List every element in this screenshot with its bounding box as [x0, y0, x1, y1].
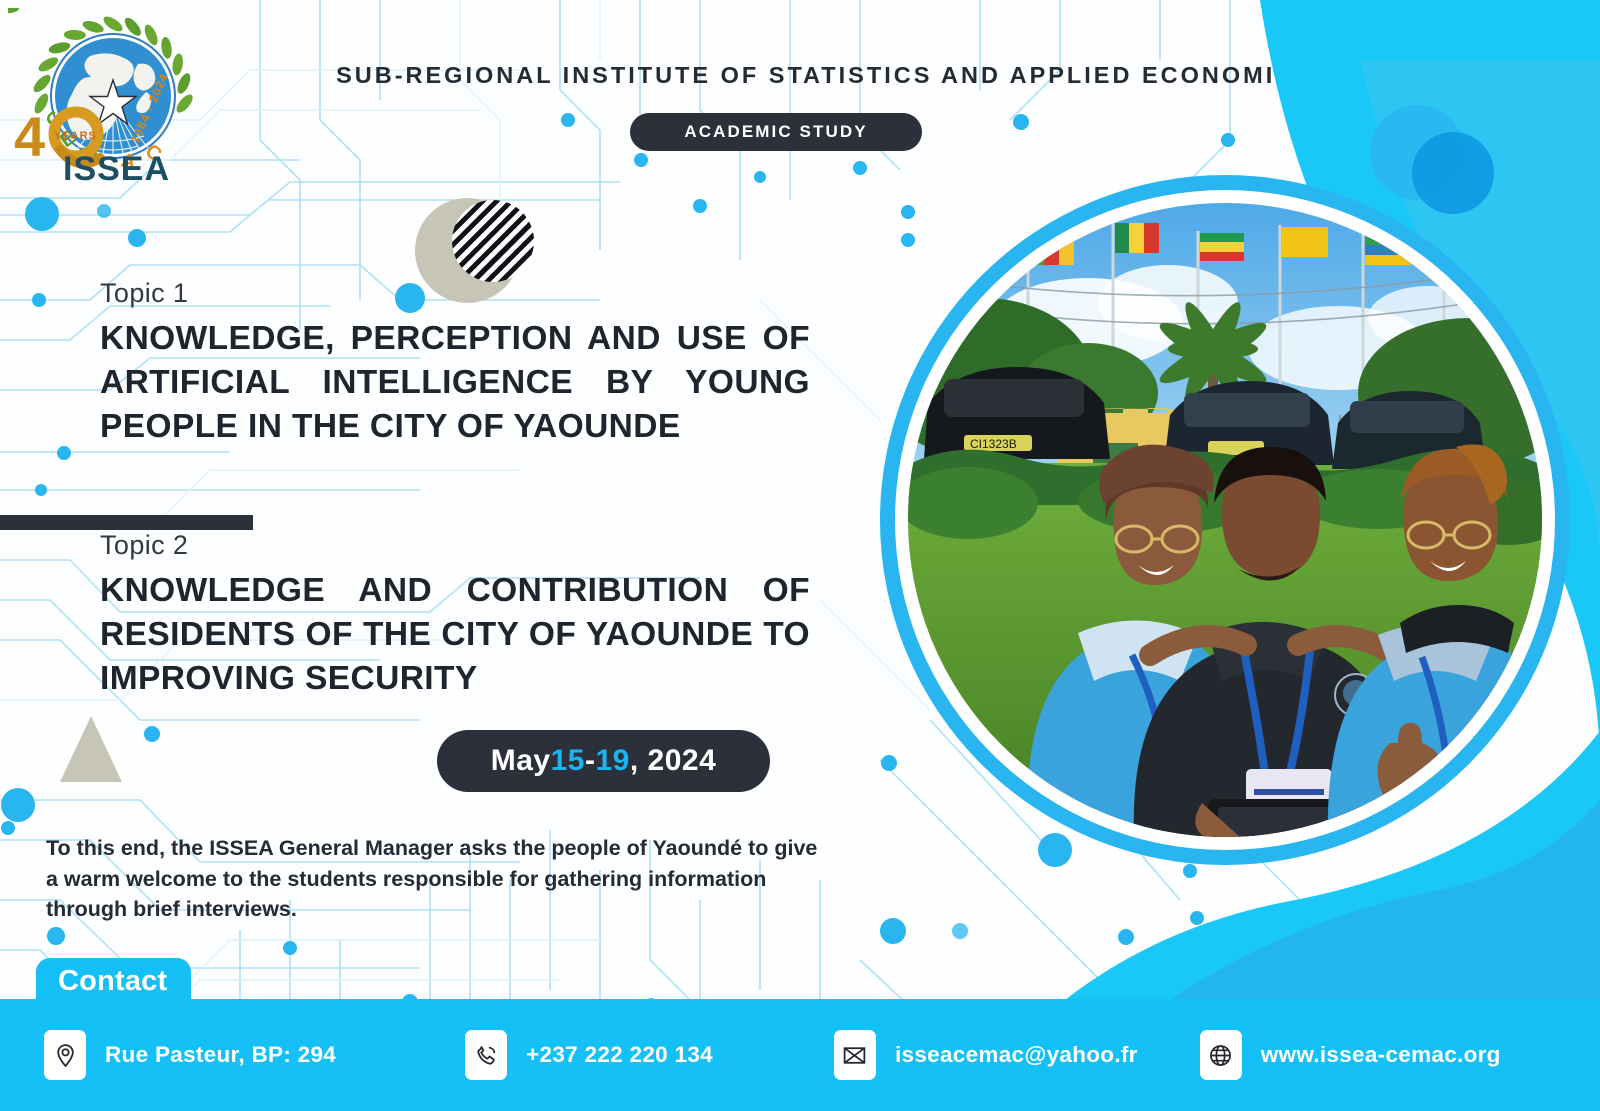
date-end-day: 19	[595, 744, 629, 778]
academic-study-badge: ACADEMIC STUDY	[630, 113, 922, 151]
location-pin-icon	[44, 1030, 86, 1080]
topic-1-kicker: Topic 1	[100, 278, 810, 309]
students-photo: CI1323B	[908, 203, 1542, 837]
striped-circle-decoration	[452, 200, 534, 282]
contact-item-phone: +237 222 220 134	[465, 1030, 713, 1080]
topic-1-title: KNOWLEDGE, PERCEPTION AND USE OF ARTIFIC…	[100, 317, 810, 450]
envelope-icon	[834, 1030, 876, 1080]
topic-2-block: Topic 2 KNOWLEDGE AND CONTRIBUTION OF RE…	[100, 530, 810, 702]
contact-phone-value: +237 222 220 134	[526, 1042, 713, 1068]
institute-title: SUB-REGIONAL INSTITUTE OF STATISTICS AND…	[270, 62, 1380, 89]
contact-email-value: isseacemac@yahoo.fr	[895, 1042, 1138, 1068]
svg-text:YEARS: YEARS	[54, 130, 97, 142]
date-start-day: 15	[551, 744, 585, 778]
topic-2-kicker: Topic 2	[100, 530, 810, 561]
contact-item-website: www.issea-cemac.org	[1200, 1030, 1501, 1080]
beige-triangle-decoration	[60, 716, 122, 782]
announcement-paragraph: To this end, the ISSEA General Manager a…	[46, 833, 821, 925]
blue-circle-decoration-2	[1412, 132, 1494, 214]
issea-cemac-logo: C E M A C 1984 - 2024 4 YEARS ISSEA	[8, 8, 218, 183]
phone-icon	[465, 1030, 507, 1080]
contact-address-value: Rue Pasteur, BP: 294	[105, 1042, 336, 1068]
topic-1-block: Topic 1 KNOWLEDGE, PERCEPTION AND USE OF…	[100, 278, 810, 450]
section-divider-bar	[0, 515, 253, 530]
date-separator: -	[585, 744, 596, 778]
svg-text:4: 4	[14, 105, 45, 168]
poster-canvas: C E M A C 1984 - 2024 4 YEARS ISSEA SUB-…	[0, 0, 1600, 1111]
svg-text:ISSEA: ISSEA	[63, 150, 170, 183]
contact-item-email: isseacemac@yahoo.fr	[834, 1030, 1138, 1080]
svg-text:CI1323B: CI1323B	[970, 437, 1017, 451]
contact-website-value: www.issea-cemac.org	[1261, 1042, 1501, 1068]
date-year: , 2024	[630, 744, 716, 778]
topic-2-title: KNOWLEDGE AND CONTRIBUTION OF RESIDENTS …	[100, 569, 810, 702]
contact-tab-label: Contact	[36, 958, 191, 1004]
date-month: May	[491, 744, 551, 778]
contact-footer: Contact Rue Pasteur, BP: 294	[0, 999, 1600, 1111]
globe-icon	[1200, 1030, 1242, 1080]
contact-item-address: Rue Pasteur, BP: 294	[44, 1030, 336, 1080]
event-date-badge: May 15 - 19, 2024	[437, 730, 770, 792]
